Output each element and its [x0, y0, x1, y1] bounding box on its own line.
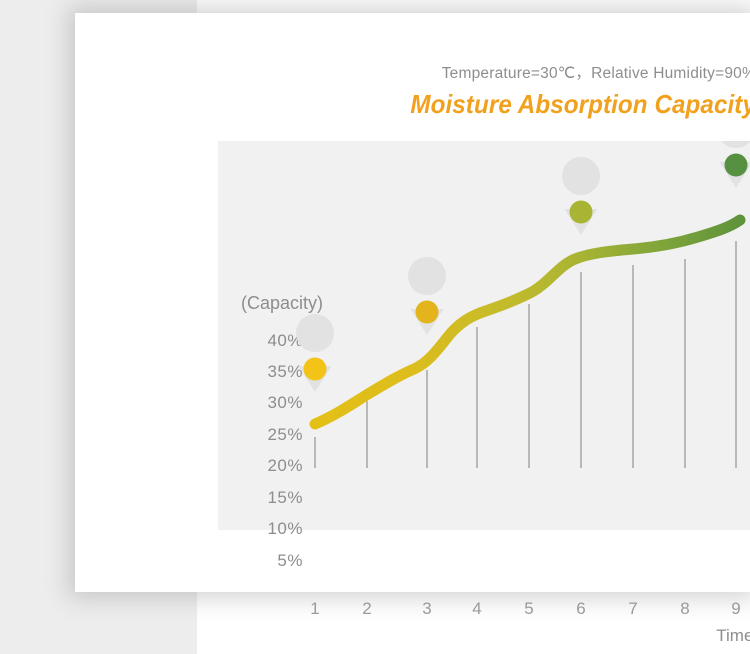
data-marker-pin-3[interactable] [408, 257, 446, 335]
data-marker-pin-6[interactable] [562, 157, 600, 235]
chart-title: Moisture Absorption Capacity [192, 89, 750, 119]
content-card: Temperature=30℃，Relative Humidity=90% Mo… [75, 13, 750, 592]
map-pin-dot [725, 154, 748, 177]
data-marker-pin-9[interactable] [717, 141, 750, 188]
screenshot-stage: Temperature=30℃，Relative Humidity=90% Mo… [0, 0, 750, 654]
y-tick-label-5: 5% [218, 551, 303, 571]
x-axis-title: Time(H) [218, 626, 750, 646]
data-marker-pin-1[interactable] [296, 314, 334, 392]
x-tick-label-5: 5 [514, 599, 544, 619]
x-tick-label-7: 7 [618, 599, 648, 619]
chart-plot-svg [218, 141, 750, 530]
x-tick-label-1: 1 [300, 599, 330, 619]
chart-subtitle: Temperature=30℃，Relative Humidity=90% [150, 61, 750, 83]
x-tick-label-6: 6 [566, 599, 596, 619]
x-tick-label-8: 8 [670, 599, 700, 619]
moisture-curve [315, 220, 740, 424]
x-tick-label-2: 2 [352, 599, 382, 619]
chart-panel: (Capacity) 40% 35% 30% 25% 20% 15% 10% 5… [218, 141, 750, 530]
x-tick-label-9: 9 [721, 599, 750, 619]
x-tick-label-3: 3 [412, 599, 442, 619]
x-tick-label-4: 4 [462, 599, 492, 619]
map-pin-dot [304, 358, 327, 381]
x-tick-lines [315, 241, 736, 468]
map-pin-dot [570, 201, 593, 224]
map-pin-dot [416, 301, 439, 324]
